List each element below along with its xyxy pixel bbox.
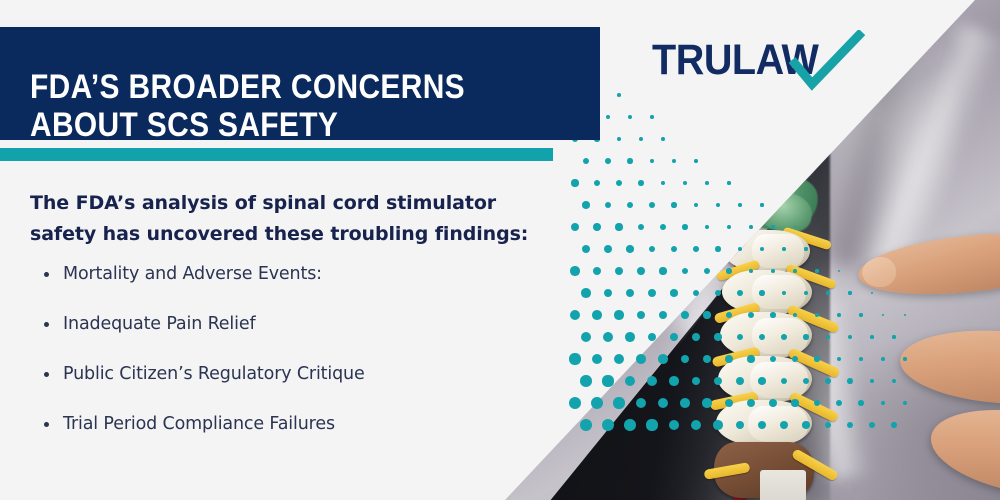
- halftone-dot: [671, 202, 676, 207]
- halftone-dot: [604, 289, 613, 298]
- cervical-spine-model: [690, 130, 920, 500]
- halftone-dot: [583, 158, 589, 164]
- halftone-dot: [570, 310, 580, 320]
- halftone-dot: [626, 245, 633, 252]
- halftone-dot: [627, 158, 632, 163]
- halftone-dot: [749, 225, 753, 229]
- halftone-dot: [616, 180, 622, 186]
- halftone-dot: [660, 224, 666, 230]
- halftone-dot: [727, 181, 730, 184]
- halftone-dot: [637, 267, 645, 275]
- halftone-dot: [682, 224, 687, 229]
- list-item: Inadequate Pain Relief: [38, 314, 558, 335]
- list-item: Mortality and Adverse Events:: [38, 264, 558, 285]
- halftone-dot: [661, 137, 665, 141]
- halftone-dot: [650, 159, 655, 164]
- halftone-dot: [581, 288, 591, 298]
- halftone-dot: [716, 203, 720, 207]
- halftone-dot: [760, 203, 763, 206]
- halftone-dot: [650, 115, 654, 119]
- halftone-dot: [628, 115, 632, 119]
- halftone-dot: [649, 246, 656, 253]
- halftone-dot: [614, 354, 624, 364]
- halftone-dot: [738, 203, 742, 207]
- findings-list: Mortality and Adverse Events:Inadequate …: [38, 264, 558, 464]
- bullet-marker-icon: [44, 422, 49, 427]
- halftone-dot: [627, 202, 633, 208]
- halftone-dot: [571, 223, 579, 231]
- halftone-dot: [602, 375, 613, 386]
- halftone-dot: [615, 267, 623, 275]
- halftone-dot: [569, 397, 581, 409]
- halftone-dot: [704, 268, 710, 274]
- halftone-dot: [581, 332, 592, 343]
- halftone-dot: [670, 289, 677, 296]
- halftone-dot: [661, 181, 666, 186]
- halftone-dot: [659, 267, 666, 274]
- halftone-dot: [638, 180, 643, 185]
- halftone-dot: [571, 179, 578, 186]
- halftone-dot: [570, 266, 579, 275]
- trulaw-logo[interactable]: TRULAW: [652, 33, 862, 91]
- list-item-label: Mortality and Adverse Events:: [63, 264, 322, 284]
- halftone-dot: [638, 224, 645, 231]
- halftone-dot: [659, 311, 667, 319]
- halftone-dot: [615, 223, 622, 230]
- halftone-dot: [582, 201, 589, 208]
- halftone-dot: [694, 159, 698, 163]
- halftone-dot: [617, 137, 622, 142]
- infographic-canvas: FDA’S BROADER CONCERNS ABOUT SCS SAFETY …: [0, 0, 1000, 500]
- vertebral-body: [752, 234, 804, 268]
- list-item: Trial Period Compliance Failures: [38, 414, 558, 435]
- halftone-dot: [617, 93, 621, 97]
- halftone-dot: [682, 268, 689, 275]
- halftone-dot: [694, 203, 699, 208]
- halftone-dot: [605, 202, 612, 209]
- halftone-dot: [705, 225, 710, 230]
- halftone-dot: [593, 223, 601, 231]
- header-band: FDA’S BROADER CONCERNS ABOUT SCS SAFETY: [0, 27, 600, 140]
- halftone-dot: [648, 333, 657, 342]
- vertebral-body: [750, 362, 808, 398]
- halftone-dot: [606, 115, 611, 120]
- halftone-dot: [672, 159, 676, 163]
- halftone-dot: [593, 267, 602, 276]
- halftone-dot: [582, 245, 590, 253]
- list-item: Public Citizen’s Regulatory Critique: [38, 364, 558, 385]
- bullet-marker-icon: [44, 272, 49, 277]
- intro-paragraph: The FDA’s analysis of spinal cord stimul…: [30, 188, 550, 250]
- halftone-dot: [605, 158, 611, 164]
- halftone-dot: [625, 332, 635, 342]
- list-item-label: Inadequate Pain Relief: [63, 314, 255, 334]
- halftone-dot: [705, 181, 709, 185]
- halftone-dot: [626, 289, 634, 297]
- halftone-dot: [614, 310, 623, 319]
- vertebral-body: [752, 318, 808, 354]
- page-title: FDA’S BROADER CONCERNS ABOUT SCS SAFETY: [30, 68, 514, 144]
- halftone-dot: [580, 375, 592, 387]
- halftone-dot: [727, 225, 731, 229]
- halftone-dot: [683, 181, 687, 185]
- brainstem-superior: [752, 134, 818, 187]
- bullet-marker-icon: [44, 322, 49, 327]
- vertebral-body: [752, 275, 806, 309]
- header-accent-bar: [0, 148, 553, 161]
- halftone-dot: [639, 137, 643, 141]
- halftone-dot: [604, 245, 612, 253]
- halftone-dot: [594, 180, 601, 187]
- halftone-dot: [569, 353, 580, 364]
- list-item-label: Public Citizen’s Regulatory Critique: [63, 364, 365, 384]
- halftone-dot: [649, 202, 655, 208]
- halftone-dot: [648, 289, 656, 297]
- halftone-dot: [715, 246, 720, 251]
- halftone-dot: [603, 332, 613, 342]
- halftone-dot: [693, 246, 699, 252]
- halftone-dot: [671, 246, 677, 252]
- halftone-dot: [637, 311, 646, 320]
- list-item-label: Trial Period Compliance Failures: [63, 414, 335, 434]
- bullet-marker-icon: [44, 372, 49, 377]
- vertebral-body: [748, 406, 808, 442]
- checkmark-icon: [788, 30, 868, 92]
- halftone-dot: [592, 310, 602, 320]
- halftone-dot: [592, 354, 603, 365]
- vertebral-artery: [736, 118, 759, 238]
- model-stand: [760, 470, 806, 500]
